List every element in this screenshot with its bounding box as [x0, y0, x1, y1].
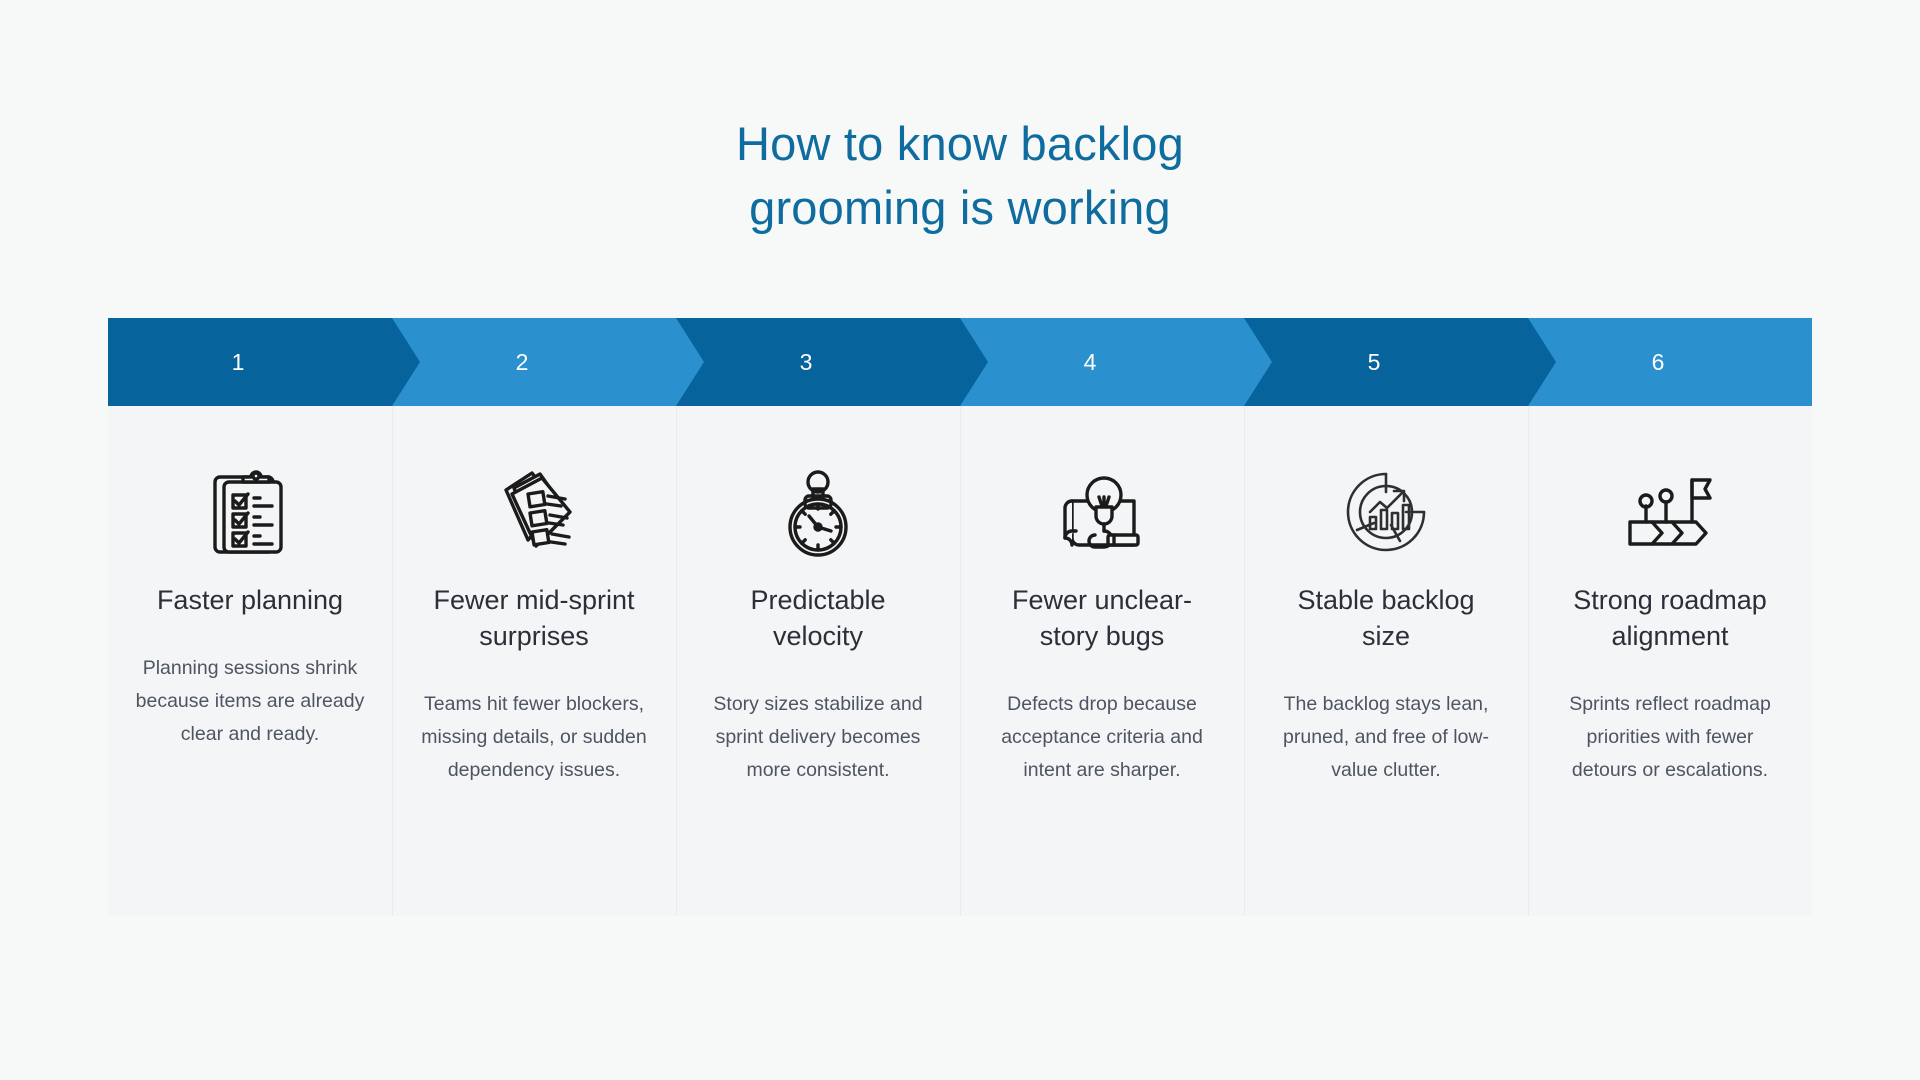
step-card-description-3: Story sizes stabilize and sprint deliver…: [702, 688, 934, 787]
chevron-step-5[interactable]: 5: [1244, 318, 1528, 406]
chevron-number-6: 6: [1652, 349, 1665, 376]
step-card-title-1: Faster planning: [134, 582, 366, 618]
chevron-number-2: 2: [516, 349, 529, 376]
step-card-6: Strong roadmap alignment Sprints reflect…: [1528, 406, 1812, 916]
step-card-description-4: Defects drop because acceptance criteria…: [986, 688, 1218, 787]
chevron-tip: [392, 318, 420, 406]
clipboard-checklist-icon: [134, 460, 366, 564]
chevron-step-6[interactable]: 6: [1528, 318, 1812, 406]
step-card-description-2: Teams hit fewer blockers, missing detail…: [418, 688, 650, 787]
step-card-3: Predictable velocity Story sizes stabili…: [676, 406, 960, 916]
step-card-4: Fewer unclear-story bugs Defects drop be…: [960, 406, 1244, 916]
roadmap-milestones-flag-icon: [1554, 460, 1786, 564]
step-card-title-2: Fewer mid-sprint surprises: [418, 582, 650, 654]
stacked-documents-icon: [418, 460, 650, 564]
chevron-step-2[interactable]: 2: [392, 318, 676, 406]
chevron-number-4: 4: [1084, 349, 1097, 376]
chevron-number-5: 5: [1368, 349, 1381, 376]
chevron-step-3[interactable]: 3: [676, 318, 960, 406]
donut-bar-chart-growth-icon: [1270, 460, 1502, 564]
chevron-step-4[interactable]: 4: [960, 318, 1244, 406]
chevron-tip: [1244, 318, 1272, 406]
chevron-tip: [960, 318, 988, 406]
step-card-description-5: The backlog stays lean, pruned, and free…: [1270, 688, 1502, 787]
step-card-5: Stable backlog size The backlog stays le…: [1244, 406, 1528, 916]
step-number-banner: 1 2 3 4 5 6: [108, 318, 1812, 406]
step-card-title-4: Fewer unclear-story bugs: [986, 582, 1218, 654]
chevron-tip: [676, 318, 704, 406]
step-cards: Faster planning Planning sessions shrink…: [108, 406, 1812, 916]
step-card-title-6: Strong roadmap alignment: [1554, 582, 1786, 654]
step-card-title-5: Stable backlog size: [1270, 582, 1502, 654]
chevron-tip: [1528, 318, 1556, 406]
page-title: How to know backlog grooming is working: [640, 112, 1280, 240]
lightbulb-blueprint-pencil-icon: [986, 460, 1218, 564]
infographic-page: How to know backlog grooming is working …: [0, 0, 1920, 1080]
stopwatch-icon: [702, 460, 934, 564]
chevron-step-1[interactable]: 1: [108, 318, 392, 406]
step-card-description-6: Sprints reflect roadmap priorities with …: [1554, 688, 1786, 787]
page-title-wrapper: How to know backlog grooming is working: [0, 112, 1920, 240]
step-card-title-3: Predictable velocity: [702, 582, 934, 654]
chevron-number-1: 1: [232, 349, 245, 376]
step-card-1: Faster planning Planning sessions shrink…: [108, 406, 392, 916]
chevron-number-3: 3: [800, 349, 813, 376]
step-card-description-1: Planning sessions shrink because items a…: [134, 652, 366, 751]
step-card-2: Fewer mid-sprint surprises Teams hit few…: [392, 406, 676, 916]
